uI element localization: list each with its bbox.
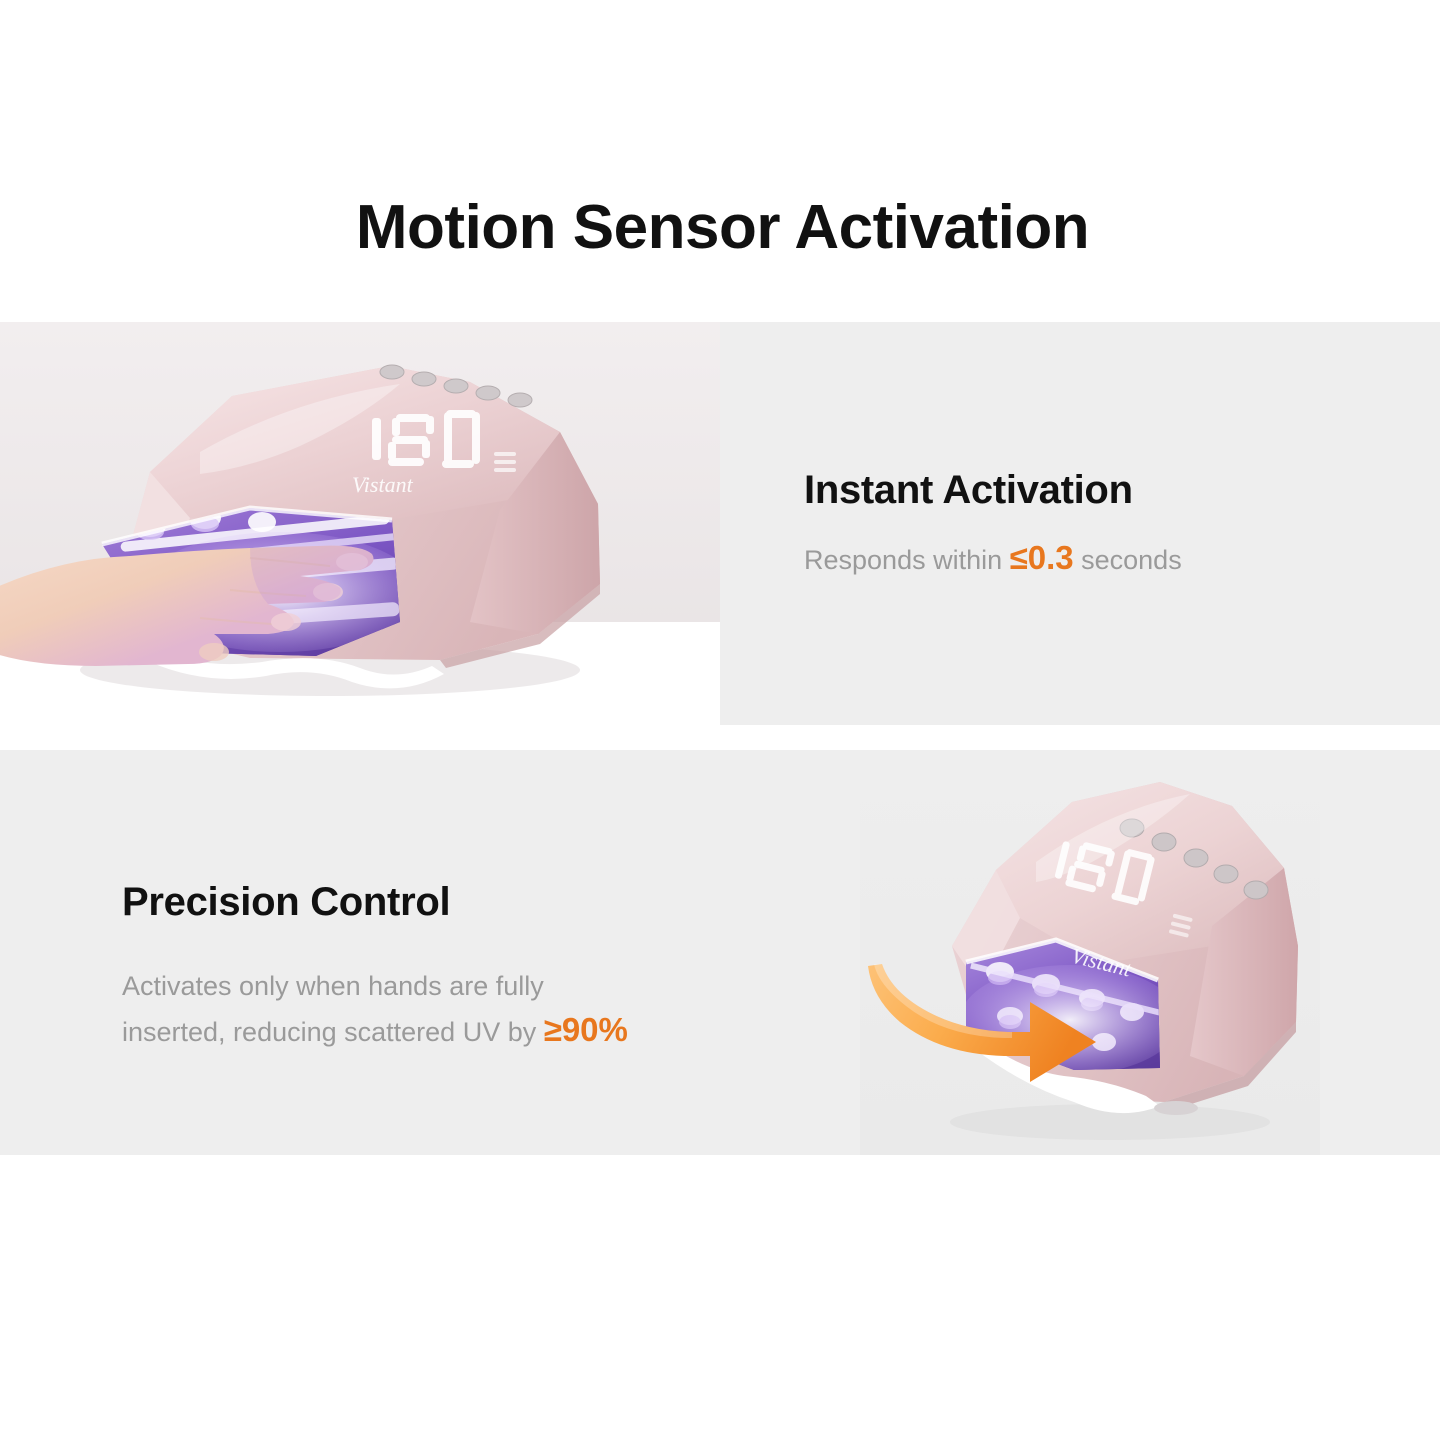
subtext-line-1: Activates only when hands are fully [122, 971, 544, 1001]
product-photo-hand-in-lamp: Vistant [0, 322, 720, 725]
product-photo-lamp-with-arrow: Vistant [860, 750, 1320, 1155]
brand-script-logo: Vistant [352, 472, 414, 497]
feature-subtext-instant-activation: Responds within ≤0.3 seconds [804, 536, 1182, 582]
subtext-highlight-response-time: ≤0.3 [1010, 539, 1074, 576]
subtext-highlight-uv-reduction: ≥90% [544, 1011, 628, 1048]
infographic-page: Motion Sensor Activation [0, 0, 1445, 1445]
feature-panel-instant-activation: Vistant Instant Activation Responds with… [0, 322, 1440, 725]
feature-subtext-precision-control: Activates only when hands are fully inse… [122, 965, 628, 1054]
subtext-suffix: seconds [1074, 545, 1182, 575]
subtext-prefix: Responds within [804, 545, 1010, 575]
page-title: Motion Sensor Activation [0, 192, 1445, 263]
feature-panel-precision-control: Precision Control Activates only when ha… [0, 750, 1440, 1155]
subtext-line-2-prefix: inserted, reducing scattered UV by [122, 1017, 544, 1047]
feature-headline-instant-activation: Instant Activation [804, 468, 1133, 513]
feature-headline-precision-control: Precision Control [122, 880, 450, 925]
